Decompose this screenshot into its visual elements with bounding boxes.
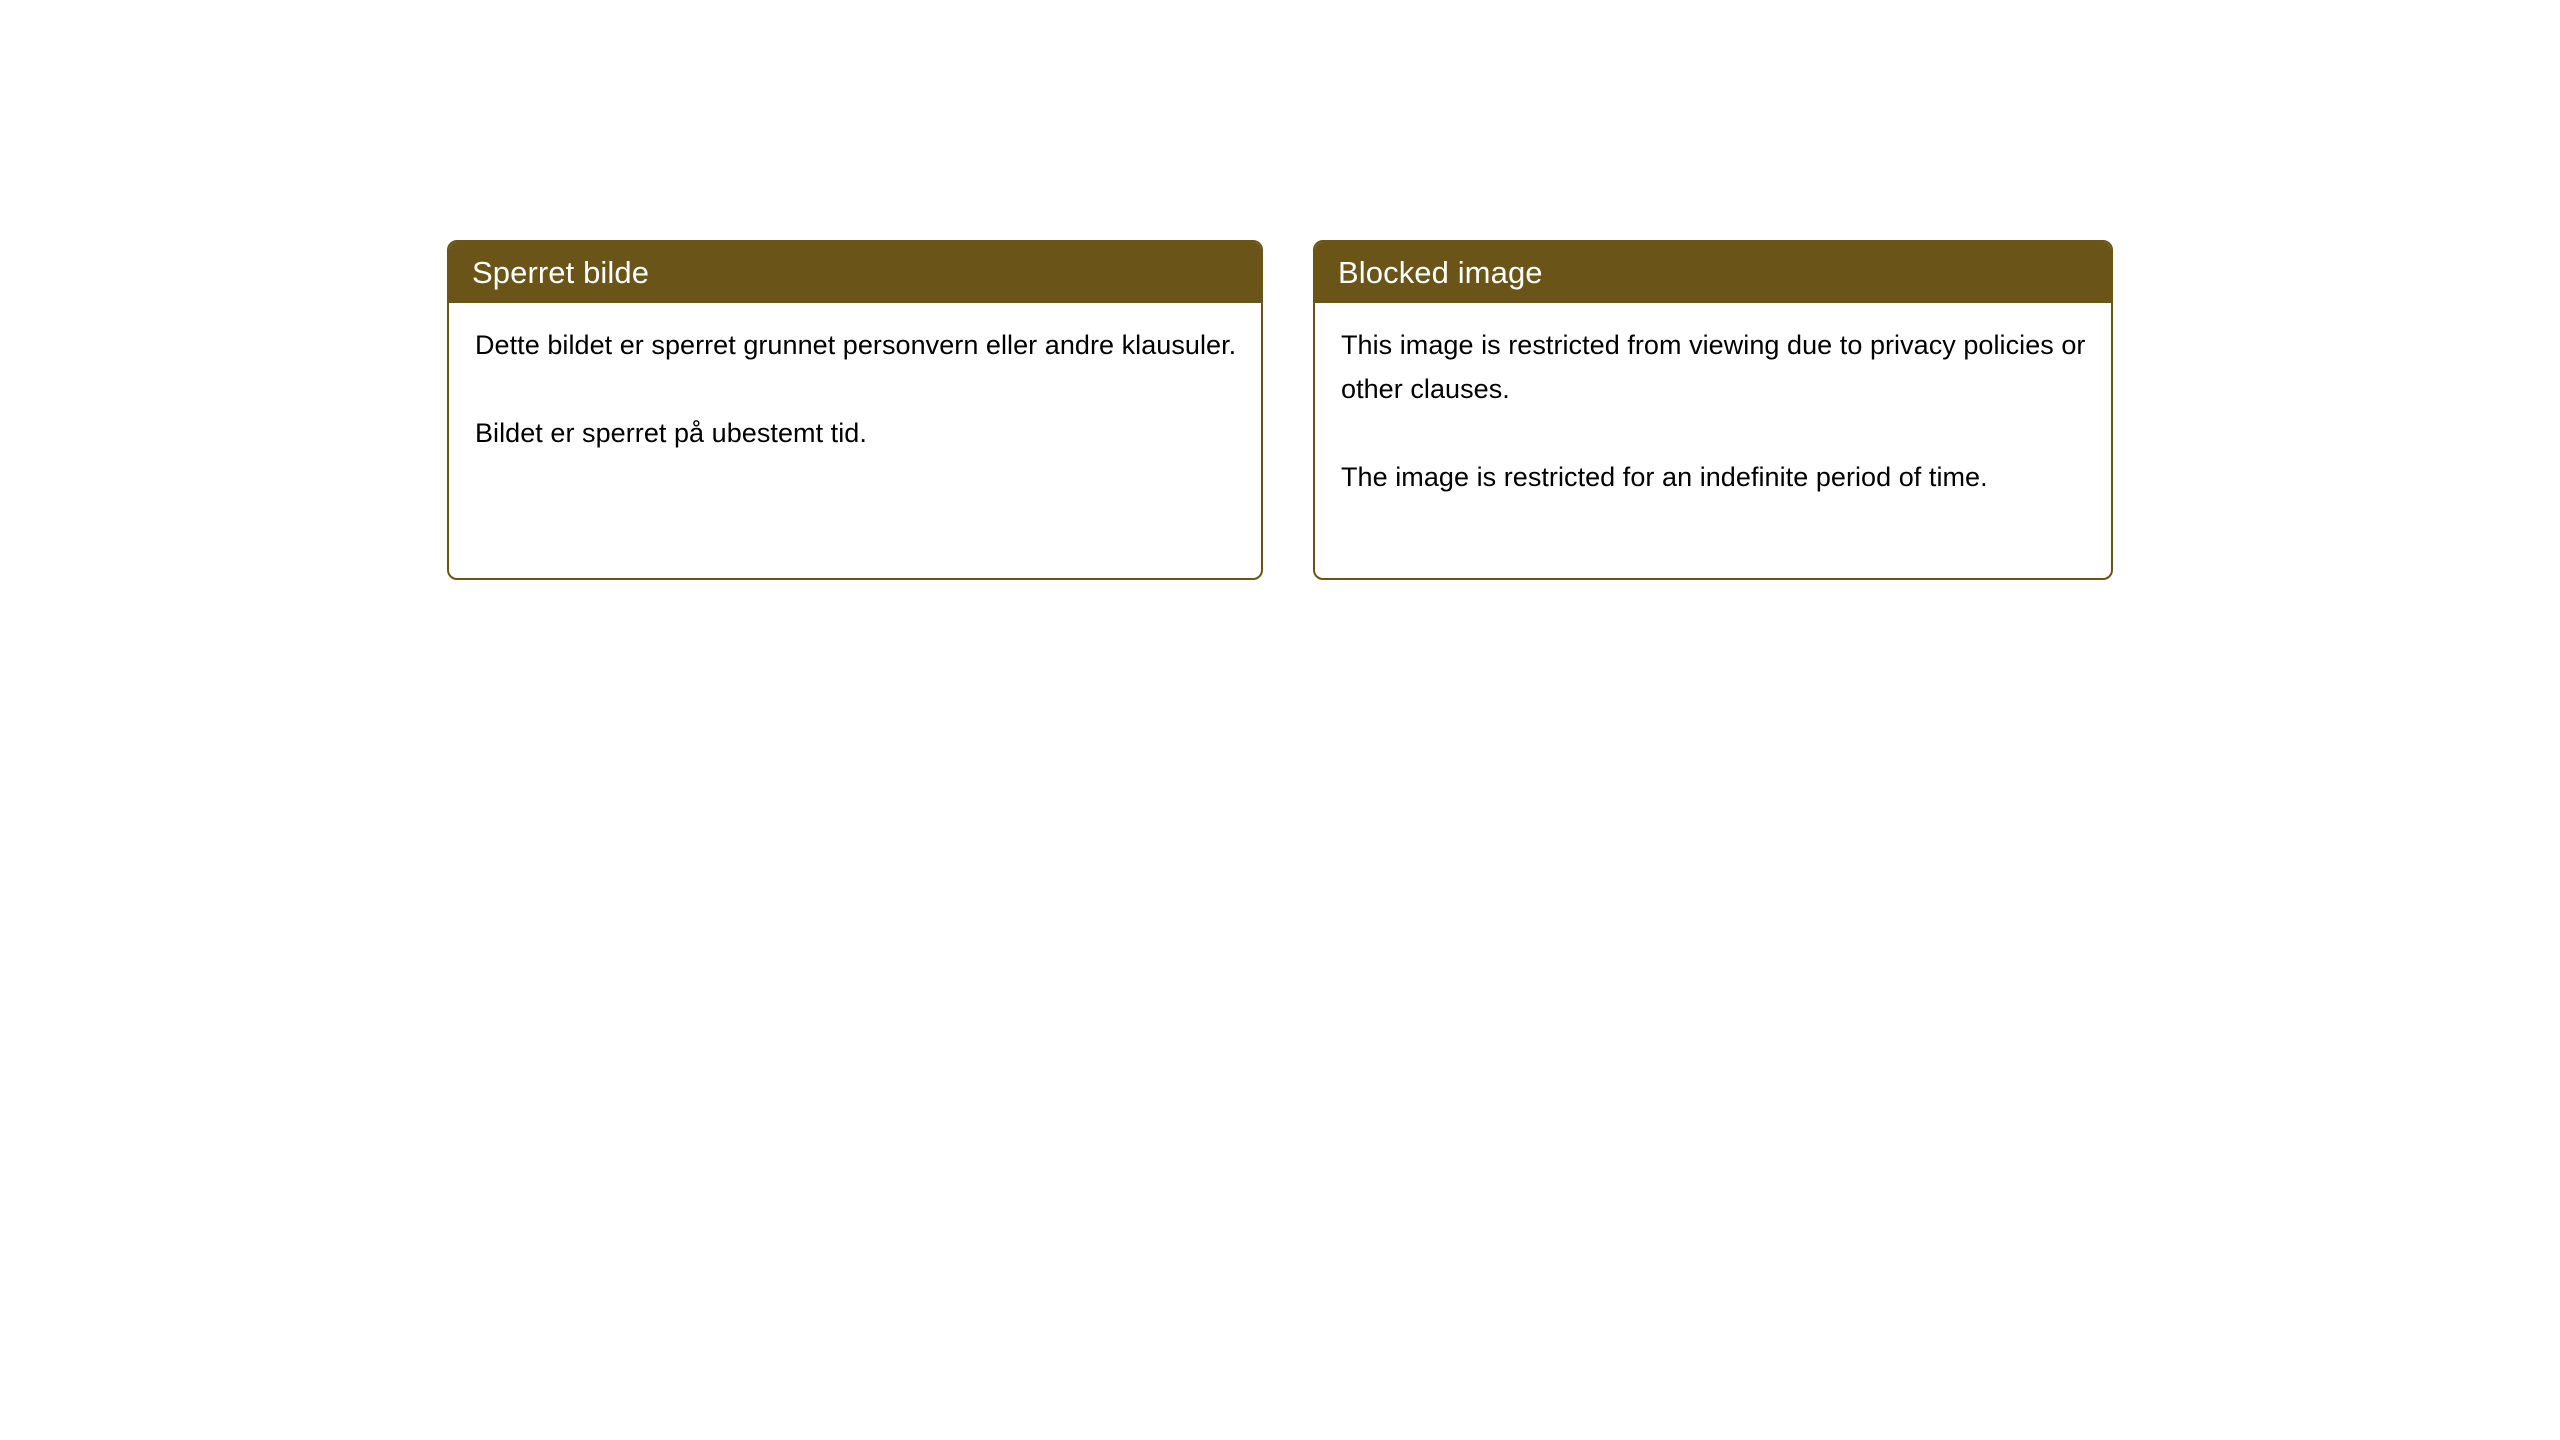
notice-card-header: Sperret bilde xyxy=(448,241,1262,303)
notice-card-paragraph-reason: Dette bildet er sperret grunnet personve… xyxy=(475,323,1239,367)
blocked-image-notice-card-norwegian: Sperret bilde Dette bildet er sperret gr… xyxy=(447,240,1263,580)
notice-card-body: This image is restricted from viewing du… xyxy=(1315,303,2111,499)
notice-card-header: Blocked image xyxy=(1314,241,2112,303)
notice-card-title: Sperret bilde xyxy=(472,257,649,288)
notice-stage: Sperret bilde Dette bildet er sperret gr… xyxy=(0,0,2560,1440)
notice-card-body: Dette bildet er sperret grunnet personve… xyxy=(449,303,1261,455)
blocked-image-notice-card-english: Blocked image This image is restricted f… xyxy=(1313,240,2113,580)
notice-card-paragraph-duration: The image is restricted for an indefinit… xyxy=(1341,455,2089,499)
notice-card-paragraph-duration: Bildet er sperret på ubestemt tid. xyxy=(475,411,1239,455)
notice-card-paragraph-reason: This image is restricted from viewing du… xyxy=(1341,323,2089,411)
notice-card-title: Blocked image xyxy=(1338,257,1543,288)
